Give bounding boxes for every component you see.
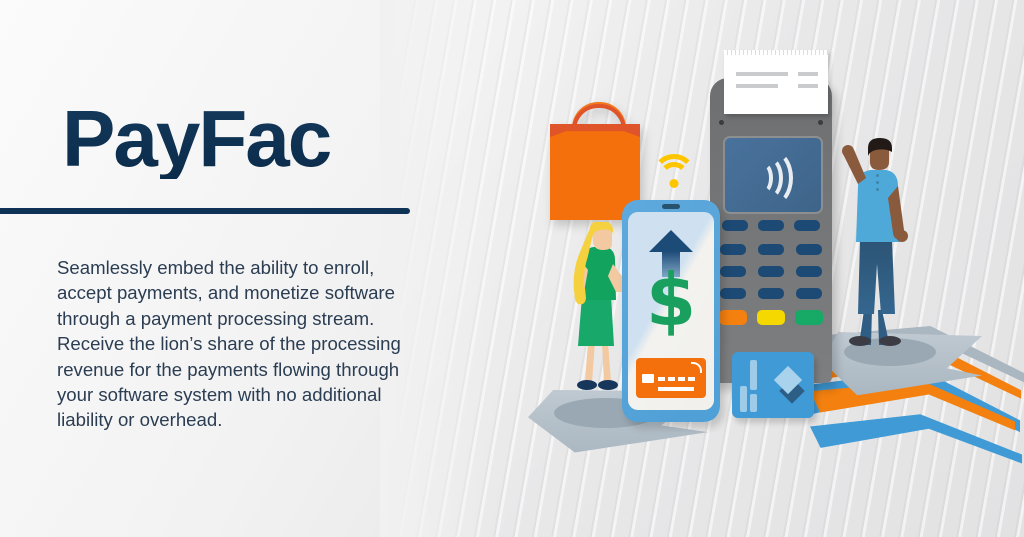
blue-ribbon-shape-2 [810, 412, 1022, 468]
terminal-key[interactable] [720, 266, 746, 277]
phone-screen: $ [628, 212, 714, 410]
terminal-key[interactable] [758, 244, 784, 255]
contactless-nfc-icon [751, 150, 797, 198]
payfac-banner: PayFac Seamlessly embed the ability to e… [0, 0, 1024, 537]
dollar-sign-icon: $ [646, 264, 696, 336]
orange-credit-card-icon [636, 358, 706, 398]
up-arrow-head [649, 230, 693, 252]
card-number-dash [678, 377, 685, 381]
receipt-line [798, 72, 818, 76]
card-chip [642, 374, 654, 383]
text-column: PayFac Seamlessly embed the ability to e… [0, 0, 470, 537]
terminal-soft-key[interactable] [794, 220, 820, 231]
terminal-key[interactable] [796, 266, 822, 277]
blue-credit-card-icon [732, 352, 814, 418]
blue-card-bar [740, 386, 747, 412]
blue-card-bar [750, 360, 757, 390]
terminal-key[interactable] [796, 244, 822, 255]
smartphone-icon: $ [622, 200, 720, 422]
yellow-function-key[interactable] [757, 310, 785, 325]
terminal-key[interactable] [758, 288, 784, 299]
terminal-key[interactable] [720, 244, 746, 255]
terminal-key[interactable] [720, 288, 746, 299]
payment-terminal-icon [710, 78, 832, 383]
terminal-screw-right [818, 120, 823, 125]
orange-function-key[interactable] [719, 310, 747, 325]
receipt-icon [724, 50, 828, 114]
page-title: PayFac [62, 99, 330, 179]
card-number-dash [668, 377, 675, 381]
title-divider-rule [0, 208, 410, 214]
receipt-line [798, 84, 818, 88]
receipt-line [736, 84, 778, 88]
body-paragraph: Seamlessly embed the ability to enroll, … [57, 255, 429, 433]
man-merchant-figure [838, 138, 916, 350]
card-contactless-icon [691, 362, 702, 373]
terminal-soft-key[interactable] [722, 220, 748, 231]
phone-speaker-notch [662, 204, 680, 209]
green-function-key[interactable] [795, 310, 823, 325]
terminal-key[interactable] [758, 266, 784, 277]
card-number-dash [658, 377, 665, 381]
card-number-dash [688, 377, 695, 381]
terminal-key[interactable] [796, 288, 822, 299]
terminal-screen [723, 136, 823, 214]
wifi-dot [670, 179, 679, 188]
shopping-bag-icon [550, 102, 640, 220]
nfc-wave-3 [753, 150, 793, 206]
blue-card-bar [750, 394, 757, 412]
illustration: $ [510, 40, 1024, 510]
card-stripe-line [658, 387, 694, 391]
terminal-soft-key[interactable] [758, 220, 784, 231]
receipt-zigzag-edge [724, 50, 828, 55]
terminal-screw-left [719, 120, 724, 125]
receipt-line [736, 72, 788, 76]
wifi-signal-icon [652, 154, 696, 192]
